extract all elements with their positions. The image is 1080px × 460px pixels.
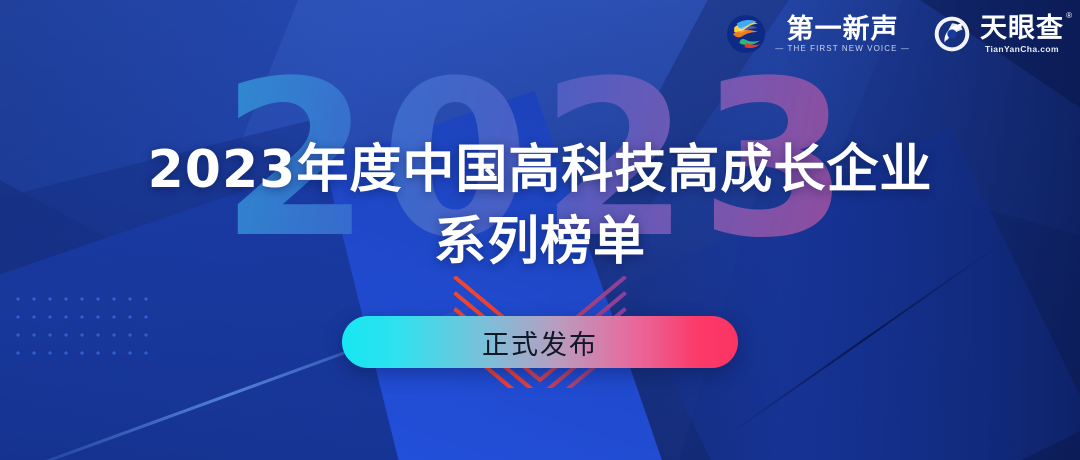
logo-name-cn: 第一新声	[787, 15, 899, 43]
page-title: 2023年度中国高科技高成长企业 系列榜单	[0, 134, 1080, 278]
logo-domain: TianYanCha.com	[985, 44, 1059, 54]
logo-tianyancha[interactable]: 天眼查® TianYanCha.com	[932, 14, 1064, 54]
logo-tagline-en: — THE FIRST NEW VOICE —	[775, 44, 910, 53]
logo-first-new-voice[interactable]: 第一新声 — THE FIRST NEW VOICE —	[725, 14, 910, 54]
release-button-label: 正式发布	[482, 323, 598, 362]
title-line-1: 2023年度中国高科技高成长企业	[0, 134, 1080, 206]
trademark-symbol: ®	[1066, 12, 1073, 20]
promo-banner: 2023	[0, 0, 1080, 460]
logo-name-cn-label: 天眼查	[980, 13, 1064, 43]
release-button[interactable]: 正式发布	[342, 316, 738, 368]
dot-grid-decoration	[10, 290, 156, 358]
title-line-2: 系列榜单	[0, 206, 1080, 278]
ribbon-swirl-icon	[725, 14, 767, 54]
logo-tianyancha-text: 天眼查® TianYanCha.com	[980, 14, 1064, 53]
header-logos: 第一新声 — THE FIRST NEW VOICE — 天眼查® TianYa…	[725, 14, 1064, 54]
aperture-eye-icon	[932, 14, 972, 54]
logo-name-cn: 天眼查®	[980, 14, 1064, 42]
logo-first-new-voice-text: 第一新声 — THE FIRST NEW VOICE —	[775, 15, 910, 53]
